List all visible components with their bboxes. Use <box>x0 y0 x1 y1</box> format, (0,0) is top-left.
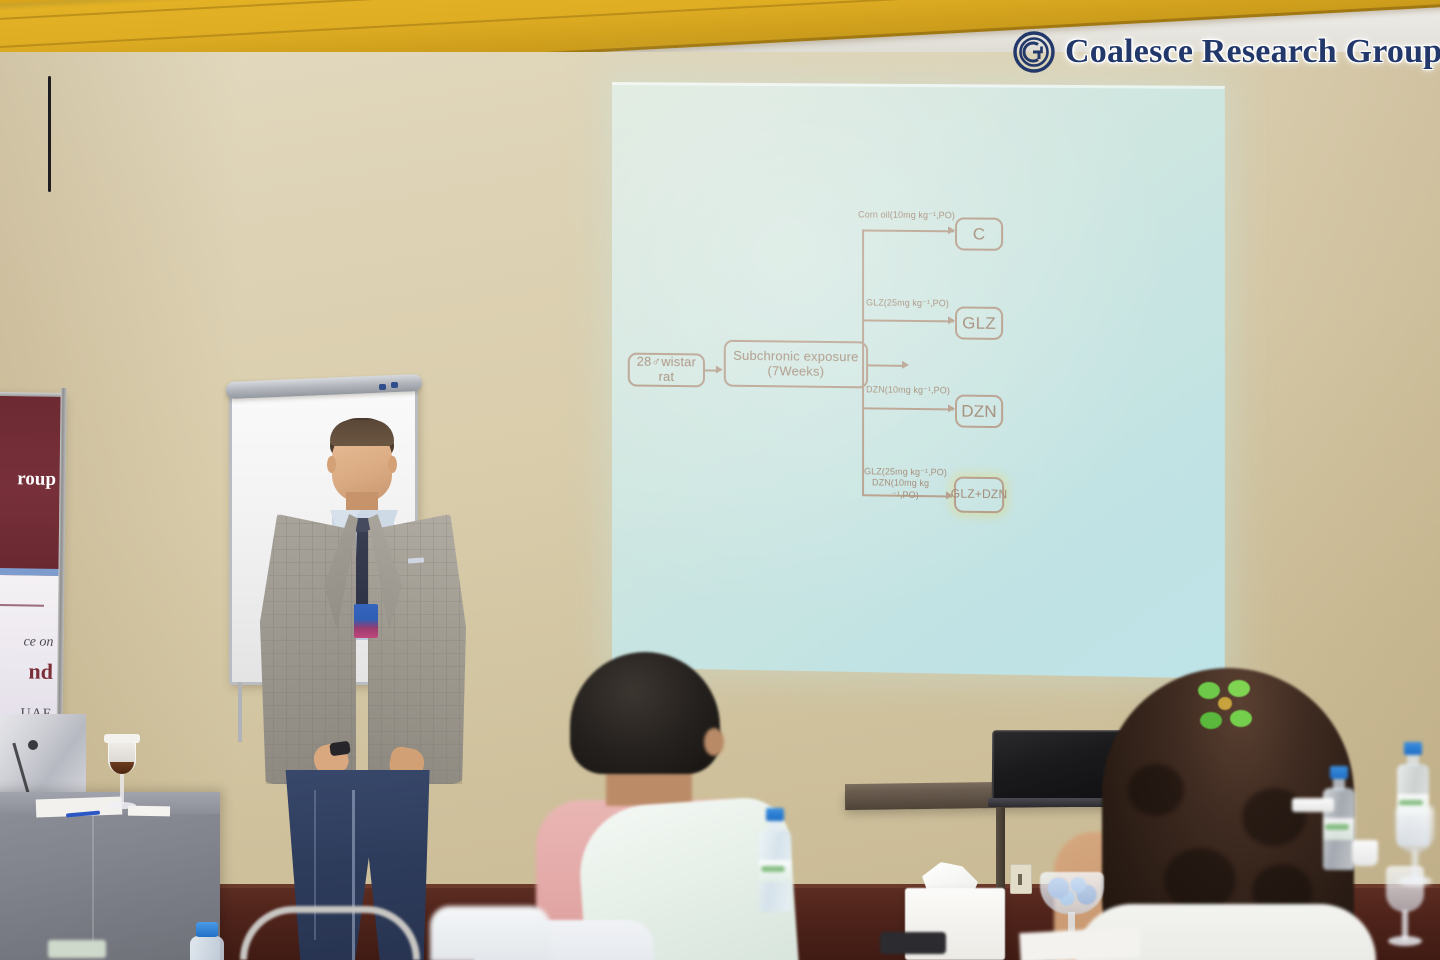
water-goblet-head-table <box>104 734 140 814</box>
bottle-cap <box>1330 766 1348 779</box>
hair-clip-petal <box>1198 682 1220 699</box>
logo-text: Coalesce Research Group <box>1065 33 1440 71</box>
presenter-ear-right <box>388 456 397 473</box>
flowchart-node-control: C <box>955 217 1003 250</box>
flowchart-node-glz-label: GLZ <box>962 313 996 332</box>
flipchart-clip-icon <box>391 382 398 388</box>
bottle-body <box>190 936 224 960</box>
microphone-icon <box>28 740 38 750</box>
candy-bowl-glass <box>1040 872 1104 914</box>
crg-monogram-icon <box>1012 30 1056 74</box>
flowchart-node-glz: GLZ <box>955 306 1003 340</box>
hair-clip-petal <box>1200 712 1222 729</box>
paper-cup <box>1352 840 1378 866</box>
hair-clip-petal <box>1230 710 1252 727</box>
edge-trunk-to-control <box>862 229 954 232</box>
flowchart-trunk-line <box>862 229 864 495</box>
arrowhead-icon <box>946 491 953 499</box>
banner-and-text: nd <box>0 657 59 685</box>
hair-clip-center <box>1218 697 1232 710</box>
edge-trunk-to-dzn <box>862 407 954 410</box>
presenter-name-badge <box>354 604 378 638</box>
bottle-cap <box>766 808 784 821</box>
flowchart-node-glz-dzn: GLZ+DZN <box>954 477 1004 514</box>
edge-label-glz: GLZ(25mg kg⁻¹,PO) <box>866 297 949 309</box>
goblet-foot <box>1398 876 1432 886</box>
draped-head-table <box>0 792 220 960</box>
water-goblet-right-back <box>1392 806 1438 902</box>
arrowhead-icon <box>948 316 955 324</box>
bottle-neck <box>1333 778 1345 790</box>
edge-label-combo-line3: ⁻¹,PO) <box>892 490 919 501</box>
bottle-cap <box>1404 742 1422 755</box>
bottle-neck <box>1407 754 1419 766</box>
edge-label-dzn: DZN(10mg kg⁻¹,PO) <box>866 384 950 396</box>
flowchart-node-exposure: Subchronic exposure (7Weeks) <box>724 340 868 389</box>
presenter-ear-left <box>327 456 336 473</box>
flipchart-clip-icon <box>379 384 386 390</box>
water-bottle <box>758 808 792 912</box>
flowchart-node-start-label: 28♂wistar rat <box>630 355 703 385</box>
banner-conference-on-text: ce on <box>0 633 60 651</box>
banner-group-text: roup <box>0 467 62 491</box>
bottle-cap <box>196 922 218 937</box>
goblet-stem <box>120 774 124 804</box>
bottle-label-graphic <box>761 866 785 872</box>
presenter <box>258 418 468 960</box>
foreground-white-object <box>430 906 550 960</box>
goblet-bowl <box>1396 806 1434 852</box>
presenter-hairline <box>330 420 394 446</box>
goblet-foot <box>108 802 136 809</box>
cup-lid <box>1292 798 1334 812</box>
presentation-clicker <box>329 741 351 757</box>
wall-outlet-slot <box>1018 874 1022 885</box>
arrowhead-icon <box>716 366 723 374</box>
edge-label-combo-line2: DZN(10mg kg <box>872 477 929 488</box>
flowchart-node-exposure-label: Subchronic exposure (7Weeks) <box>730 349 862 380</box>
coalesce-research-group-logo: Coalesce Research Group <box>1012 30 1440 74</box>
experimental-design-flowchart: 28♂wistar rat Subchronic exposure (7Week… <box>612 82 1225 679</box>
conference-room-scene: 28♂wistar rat Subchronic exposure (7Week… <box>0 0 1440 960</box>
flowchart-node-glz-dzn-label: GLZ+DZN <box>951 488 1008 502</box>
smartphone-on-table <box>880 932 946 954</box>
hair-curl <box>1128 764 1184 816</box>
bottle-neck <box>769 820 781 832</box>
bottle-label-graphic <box>1325 824 1349 830</box>
flipchart-leg <box>238 682 242 742</box>
audience-member-front <box>508 652 828 960</box>
coaster <box>48 940 106 958</box>
hair-clip-petal <box>1228 680 1250 697</box>
flowchart-node-dzn: DZN <box>955 394 1003 428</box>
hair-curl <box>1164 848 1236 912</box>
water-bottle <box>1322 766 1356 870</box>
audience-member-hair <box>570 652 720 774</box>
flowchart-node-start: 28♂wistar rat <box>628 353 705 388</box>
edge-label-corn-oil: Corn oil(10mg kg⁻¹,PO) <box>858 209 955 221</box>
paper-on-table <box>1019 927 1140 960</box>
flowchart-node-dzn-label: DZN <box>961 402 997 422</box>
audience-member-ear <box>704 728 724 756</box>
chair-back-rail <box>240 906 420 960</box>
hair-clip <box>1198 680 1260 732</box>
hair-curl <box>1242 788 1306 846</box>
goblet-foot <box>1388 936 1422 946</box>
goblet-cover <box>104 734 140 743</box>
water-bottle-foreground <box>188 922 226 960</box>
laptop-power-cord <box>48 76 51 192</box>
arrowhead-icon <box>902 361 909 369</box>
edge-trunk-to-glz <box>862 319 954 322</box>
arrowhead-icon <box>948 226 955 234</box>
projected-slide: 28♂wistar rat Subchronic exposure (7Week… <box>612 82 1225 679</box>
edge-exposure-to-trunk <box>868 364 904 366</box>
flowchart-node-control-label: C <box>973 224 986 243</box>
tablecloth-fold <box>92 806 94 956</box>
goblet-liquid <box>110 762 134 774</box>
arrowhead-icon <box>948 404 955 412</box>
